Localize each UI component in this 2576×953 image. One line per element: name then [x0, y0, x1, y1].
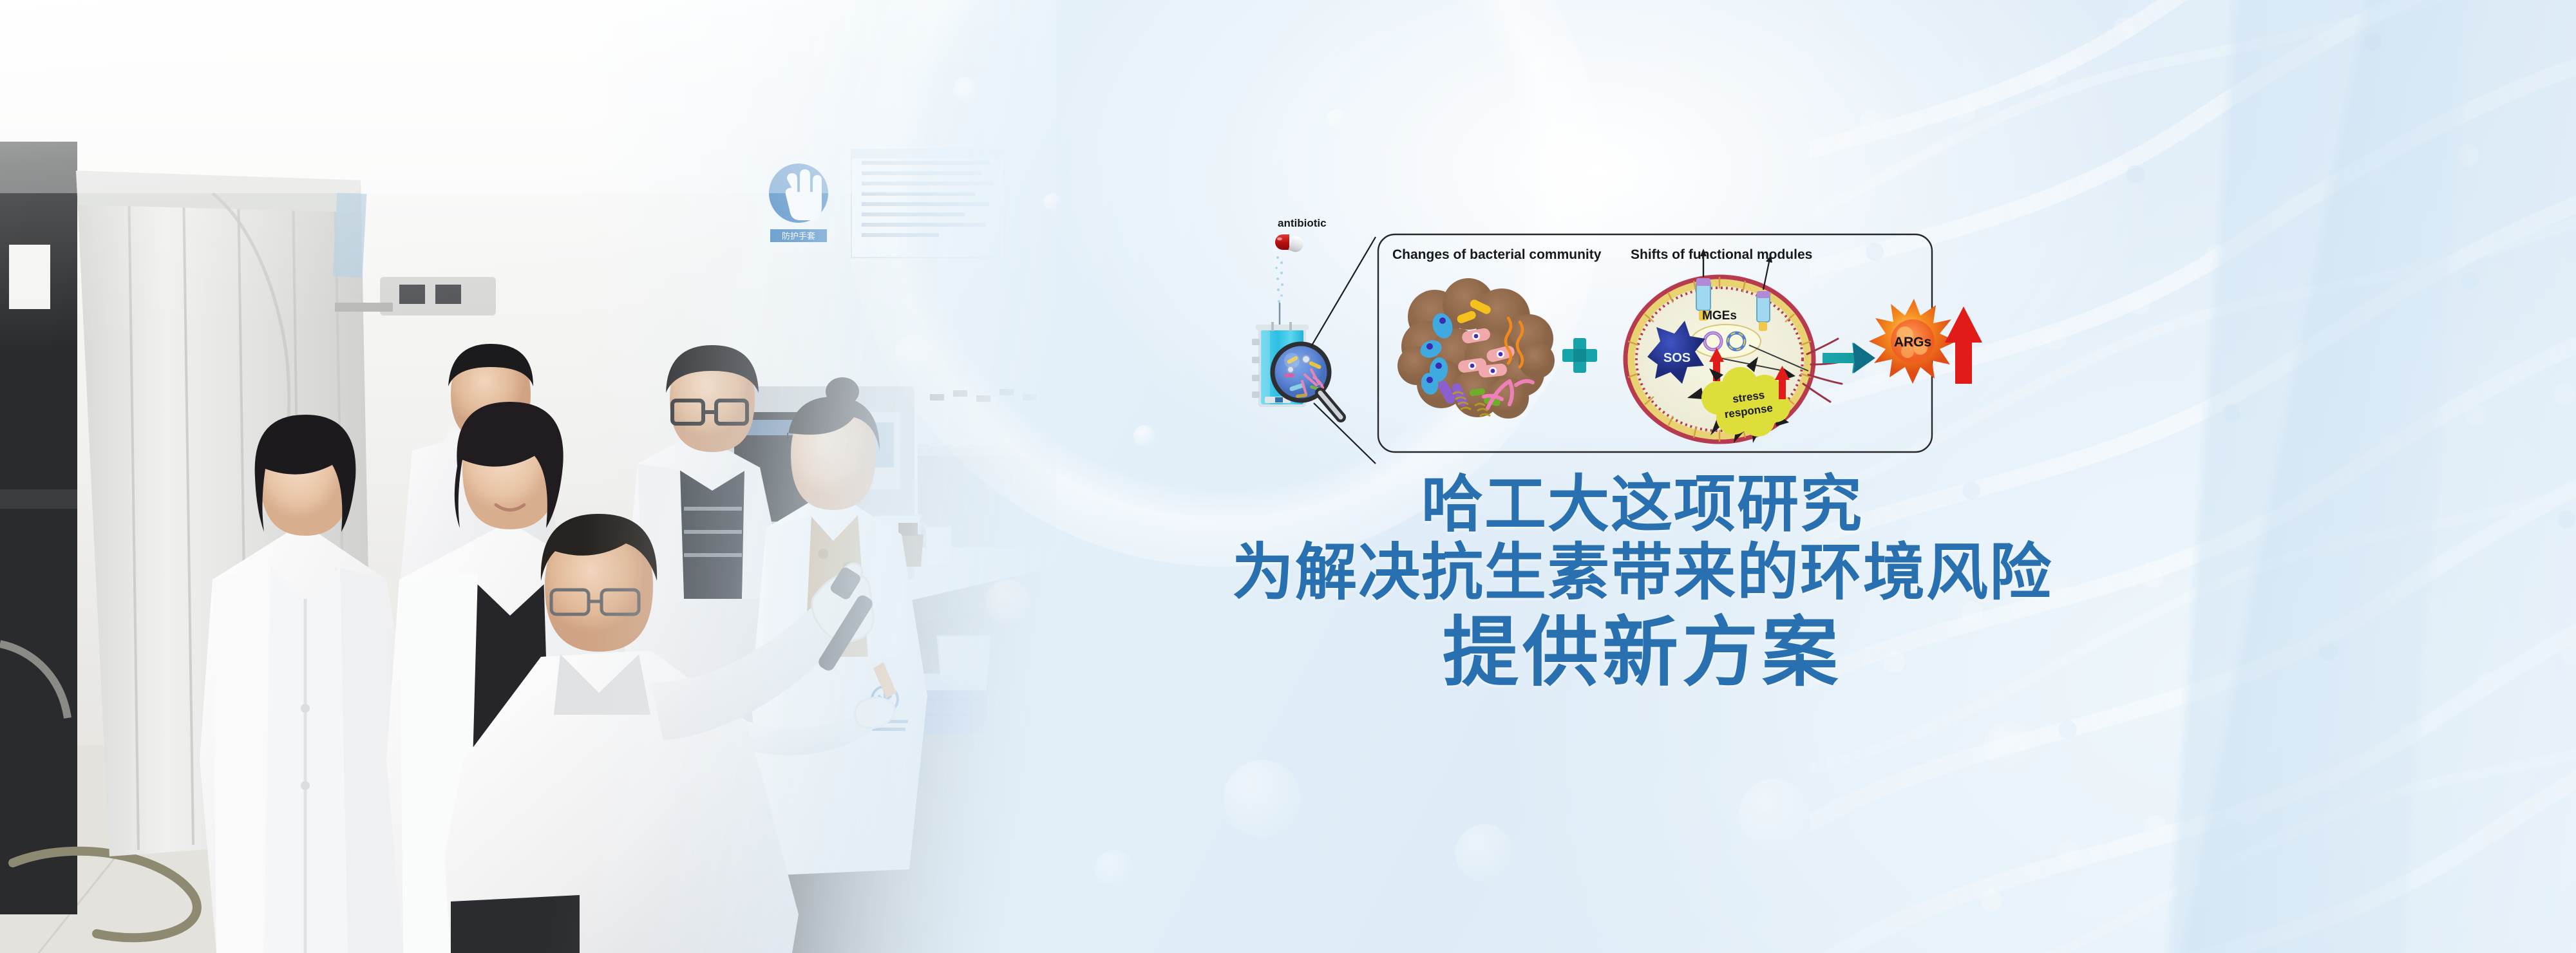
panel-title-left: Changes of bacterial community: [1392, 247, 1602, 262]
banner-root: 防护手套: [0, 0, 2576, 953]
args-up-arrow-icon: [1945, 307, 1982, 384]
plus-icon: [1562, 338, 1597, 373]
mges-label: MGEs: [1702, 309, 1737, 323]
headline-line-3: 提供新方案: [1211, 614, 2074, 691]
bacterial-cell-icon: MGEs SOS: [1625, 249, 1846, 443]
abstract-artwork: antibiotic: [1249, 212, 1984, 470]
headline: 哈工大这项研究 为解决抗生素带来的环境风险 提供新方案: [1211, 473, 2074, 691]
antibiotic-capsule-icon: [1275, 234, 1305, 254]
panel-title-right: Shifts of functional modules: [1631, 247, 1812, 262]
args-burst-icon: ARGs: [1869, 299, 1956, 384]
teal-arrow-icon: [1823, 343, 1875, 373]
antibiotic-label: antibiotic: [1278, 217, 1327, 229]
powder-particles: [1275, 256, 1283, 303]
lab-group-photo: 防护手套: [0, 0, 1056, 953]
photo-artwork: 防护手套: [0, 0, 1056, 953]
bacterial-community-icon: [1397, 278, 1555, 419]
sos-label: SOS: [1663, 351, 1690, 365]
graphical-abstract: antibiotic: [1249, 212, 1984, 470]
args-label: ARGs: [1894, 335, 1931, 350]
safety-sign-label: 防护手套: [782, 231, 815, 241]
headline-line-1: 哈工大这项研究: [1211, 473, 2074, 536]
headline-line-2: 为解决抗生素带来的环境风险: [1211, 542, 2074, 605]
